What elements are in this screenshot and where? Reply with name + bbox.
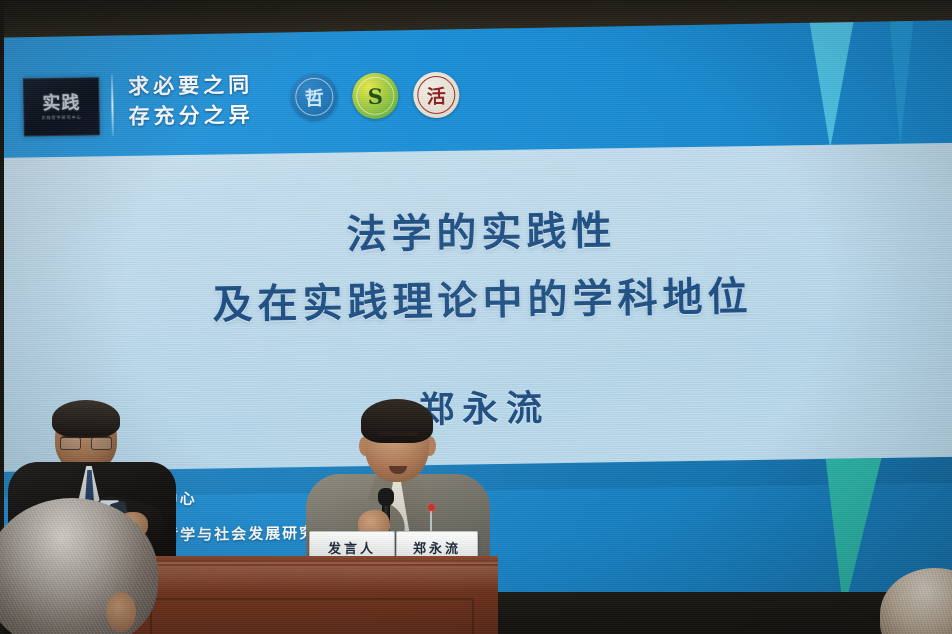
projection-screen: 实践 实践哲学研究中心 求必要之同 存充分之异 哲 S 活 法学的实践性 及在实…	[0, 1, 952, 606]
organizer-line-1: 究中心	[145, 479, 316, 518]
institute-logo-mark: 实践 实践哲学研究中心	[23, 77, 100, 136]
university-seal-glyph: 哲	[305, 83, 324, 110]
room-floor-shadow	[0, 592, 952, 634]
header-seal-logos: 哲 S 活	[291, 72, 460, 121]
slide-title-line-2: 及在实践理论中的学科地位	[0, 265, 952, 338]
slogan-line-2: 存充分之异	[128, 100, 253, 132]
logo-seal-characters: 实践	[41, 94, 81, 113]
organizer-line-3: 究中心	[146, 551, 317, 590]
room-left-edge	[0, 0, 4, 634]
slogan-line-1: 求必要之同	[128, 70, 253, 102]
slide-title-block: 法学的实践性 及在实践理论中的学科地位 郑永流	[0, 197, 952, 440]
society-seal-icon: S	[352, 73, 399, 120]
header-accent-wedge-secondary-icon	[888, 1, 918, 148]
header-slogan: 求必要之同 存充分之异	[128, 70, 254, 132]
logo-seal-text: 实践 实践哲学研究中心	[41, 94, 81, 120]
institute-seal-glyph: 活	[427, 81, 446, 108]
conference-photo: 实践 实践哲学研究中心 求必要之同 存充分之异 哲 S 活 法学的实践性 及在实…	[0, 0, 952, 634]
logo-seal-subtitle: 实践哲学研究中心	[42, 115, 82, 120]
slide-footer-band: 究中心 践哲学与社会发展研究 究中心	[0, 457, 952, 606]
organizer-line-2: 践哲学与社会发展研究	[146, 515, 317, 554]
institute-seal-icon: 活	[413, 72, 460, 119]
footer-organizer-text: 究中心 践哲学与社会发展研究 究中心	[145, 479, 317, 590]
society-seal-glyph: S	[368, 83, 384, 108]
header-accent-wedge-icon	[806, 1, 860, 150]
university-seal-icon: 哲	[291, 74, 338, 121]
footer-accent-wedge-icon	[825, 457, 886, 606]
